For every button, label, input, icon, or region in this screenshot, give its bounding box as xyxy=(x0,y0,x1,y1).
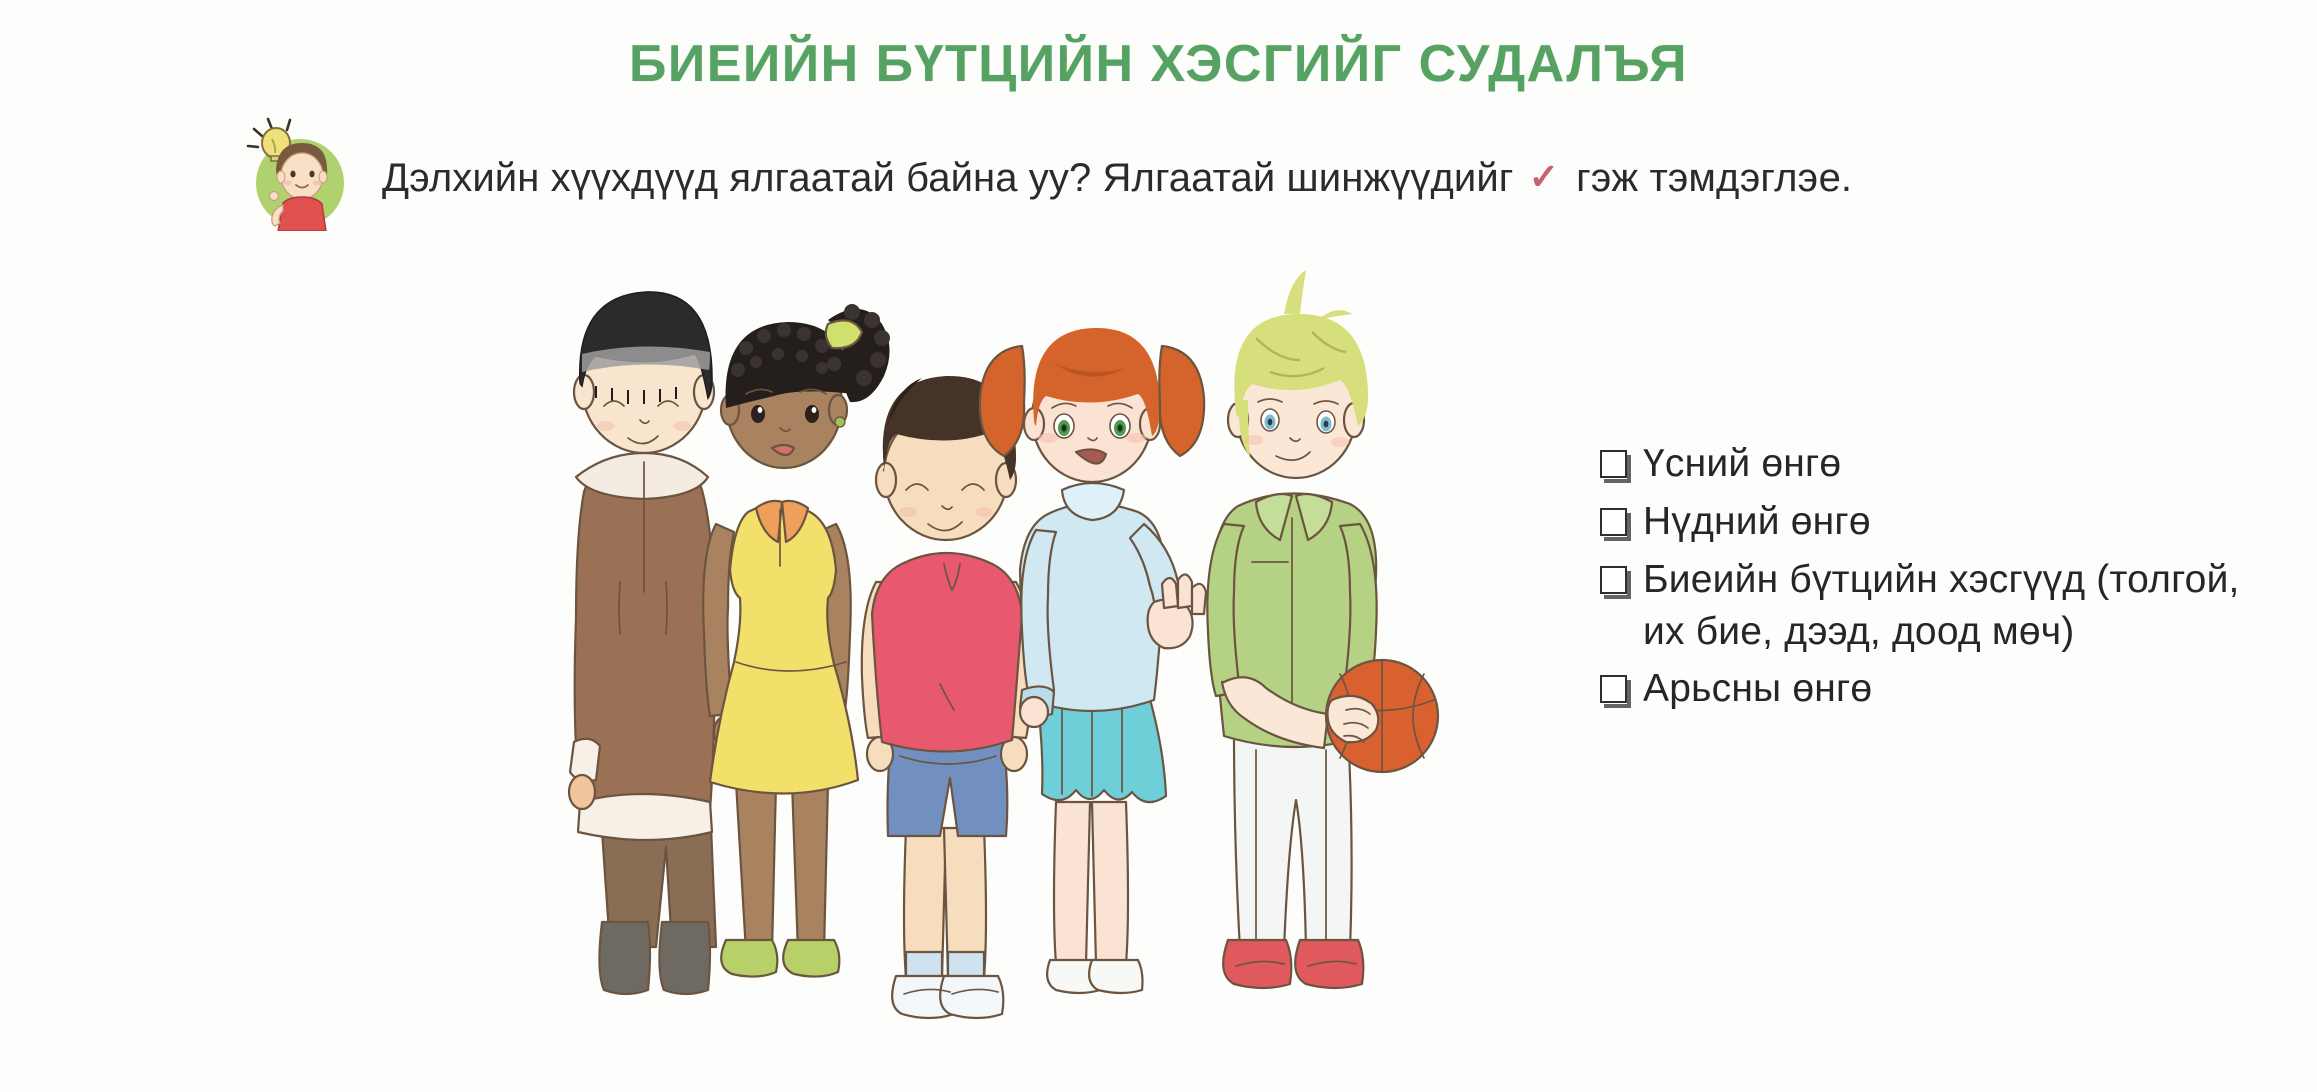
checkbox-icon[interactable] xyxy=(1600,566,1626,593)
checklist-item-hair-color[interactable]: Үсний өнгө xyxy=(1600,438,2240,490)
idea-boy-icon xyxy=(238,113,356,231)
page-title: БИЕИЙН БҮТЦИЙН ХЭСГИЙГ СУДАЛЪЯ xyxy=(0,34,2317,94)
five-children-illustration: .ol{stroke:#6b5440;stroke-width:2.2;stro… xyxy=(540,262,1480,1052)
child-blond-boy xyxy=(1207,270,1438,988)
checklist-item-label: Биеийн бүтцийн хэсгүүд (толгой, их бие, … xyxy=(1643,554,2240,658)
child-asian-boy xyxy=(862,376,1032,1018)
checklist-item-label: Үсний өнгө xyxy=(1643,438,1841,490)
differences-checklist: Үсний өнгө Нүдний өнгө Биеийн бүтцийн хэ… xyxy=(1600,438,2240,721)
checkbox-icon[interactable] xyxy=(1600,450,1626,477)
checklist-item-body-parts[interactable]: Биеийн бүтцийн хэсгүүд (толгой, их бие, … xyxy=(1600,554,2240,658)
checkbox-icon[interactable] xyxy=(1600,675,1626,702)
checklist-item-eye-color[interactable]: Нүдний өнгө xyxy=(1600,496,2240,548)
check-mark-glyph: ✓ xyxy=(1525,156,1565,198)
child-inuit-boy xyxy=(569,292,716,994)
instruction-text-part1: Дэлхийн хүүхдүүд ялгаатай байна уу? Ялга… xyxy=(382,156,1513,200)
checklist-item-label: Арьсны өнгө xyxy=(1643,663,1872,715)
instruction-row: Дэлхийн хүүхдүүд ялгаатай байна уу? Ялга… xyxy=(238,112,2138,232)
checklist-item-skin-color[interactable]: Арьсны өнгө xyxy=(1600,663,2240,715)
checklist-item-label: Нүдний өнгө xyxy=(1643,496,1871,548)
instruction-text: Дэлхийн хүүхдүүд ялгаатай байна уу? Ялга… xyxy=(382,141,1852,202)
checkbox-icon[interactable] xyxy=(1600,508,1626,535)
instruction-text-part2: гэж тэмдэглэе. xyxy=(1576,156,1852,200)
